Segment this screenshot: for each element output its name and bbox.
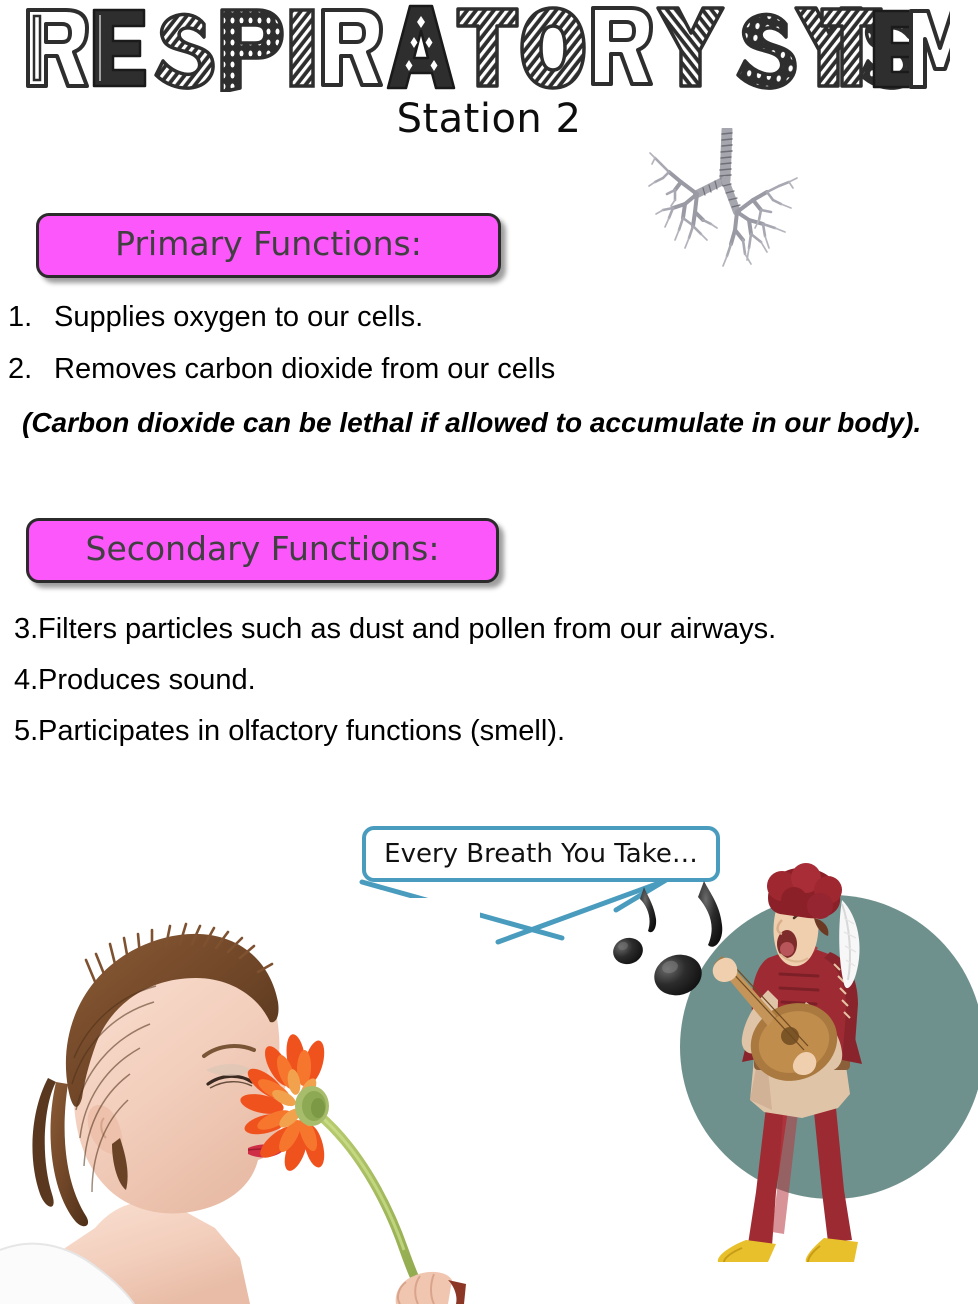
woman-smelling-flower-photo bbox=[0, 898, 480, 1304]
title-block bbox=[0, 0, 978, 95]
list-item-number: 1. bbox=[8, 302, 54, 334]
list-item: 1.Supplies oxygen to our cells. bbox=[8, 302, 423, 334]
list-item-text: Filters particles such as dust and polle… bbox=[38, 613, 776, 645]
respiratory-system-title bbox=[14, 0, 964, 92]
secondary-functions-heading-label: Secondary Functions: bbox=[86, 532, 440, 565]
list-item: 4.Produces sound. bbox=[14, 665, 256, 697]
speech-bubble: Every Breath You Take… bbox=[362, 826, 720, 882]
speech-bubble-text: Every Breath You Take… bbox=[384, 839, 698, 869]
primary-functions-heading-label: Primary Functions: bbox=[115, 227, 422, 260]
primary-functions-note: (Carbon dioxide can be lethal if allowed… bbox=[22, 407, 921, 439]
music-note-icon bbox=[600, 875, 750, 1005]
bronchial-tree-illustration bbox=[645, 128, 810, 283]
station-label: Station 2 bbox=[0, 96, 978, 142]
list-item-text: Removes carbon dioxide from our cells bbox=[54, 353, 555, 385]
list-item-number: 5. bbox=[14, 716, 38, 748]
list-item: 2.Removes carbon dioxide from our cells bbox=[8, 354, 555, 386]
list-item-text: Participates in olfactory functions (sme… bbox=[38, 715, 565, 747]
list-item-text: Supplies oxygen to our cells. bbox=[54, 301, 423, 333]
list-item-number: 3. bbox=[14, 614, 38, 646]
list-item-text: Produces sound. bbox=[38, 664, 256, 696]
list-item-number: 4. bbox=[14, 665, 38, 697]
primary-functions-heading: Primary Functions: bbox=[36, 213, 501, 278]
list-item: 3.Filters particles such as dust and pol… bbox=[14, 614, 776, 646]
secondary-functions-heading: Secondary Functions: bbox=[26, 518, 499, 583]
list-item: 5.Participates in olfactory functions (s… bbox=[14, 716, 565, 748]
list-item-number: 2. bbox=[8, 354, 54, 386]
